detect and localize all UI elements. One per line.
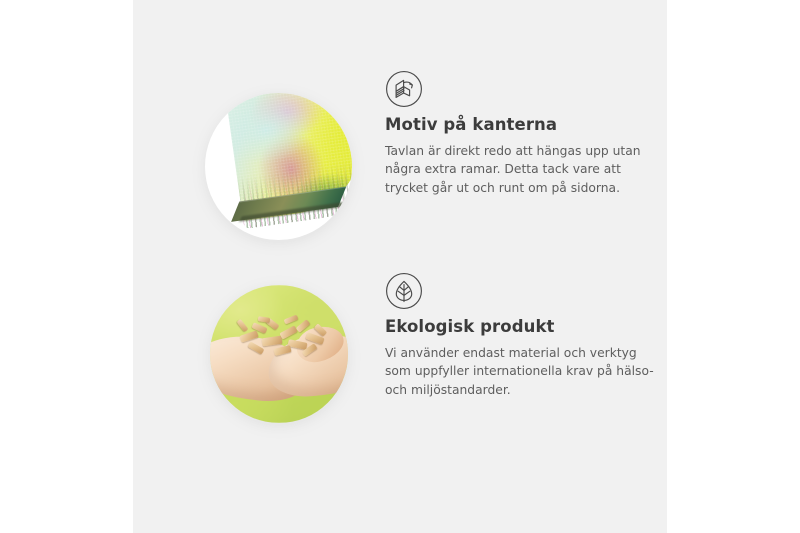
canvas-artwork	[226, 93, 352, 237]
hands-holding-wood-chips-photo	[210, 285, 348, 423]
feature-block-ekologisk-produkt: Ekologisk produkt Vi använder endast mat…	[133, 272, 667, 437]
feature-text-motiv-pa-kanterna: Motiv på kanterna Tavlan är direkt redo …	[385, 115, 660, 198]
leaf-icon	[385, 272, 423, 310]
canvas-corner-photo	[205, 93, 352, 240]
feature-block-motiv-pa-kanterna: Motiv på kanterna Tavlan är direkt redo …	[133, 70, 667, 255]
feature-description: Vi använder endast material och verktyg …	[385, 344, 660, 400]
feature-text-ekologisk-produkt: Ekologisk produkt Vi använder endast mat…	[385, 317, 660, 400]
feature-description: Tavlan är direkt redo att hängas upp uta…	[385, 142, 660, 198]
wood-chips-pile	[236, 317, 334, 365]
product-feature-panel: Motiv på kanterna Tavlan är direkt redo …	[0, 0, 800, 533]
canvas-wrapped-edge-icon	[385, 70, 423, 108]
feature-title: Motiv på kanterna	[385, 115, 660, 135]
feature-title: Ekologisk produkt	[385, 317, 660, 337]
